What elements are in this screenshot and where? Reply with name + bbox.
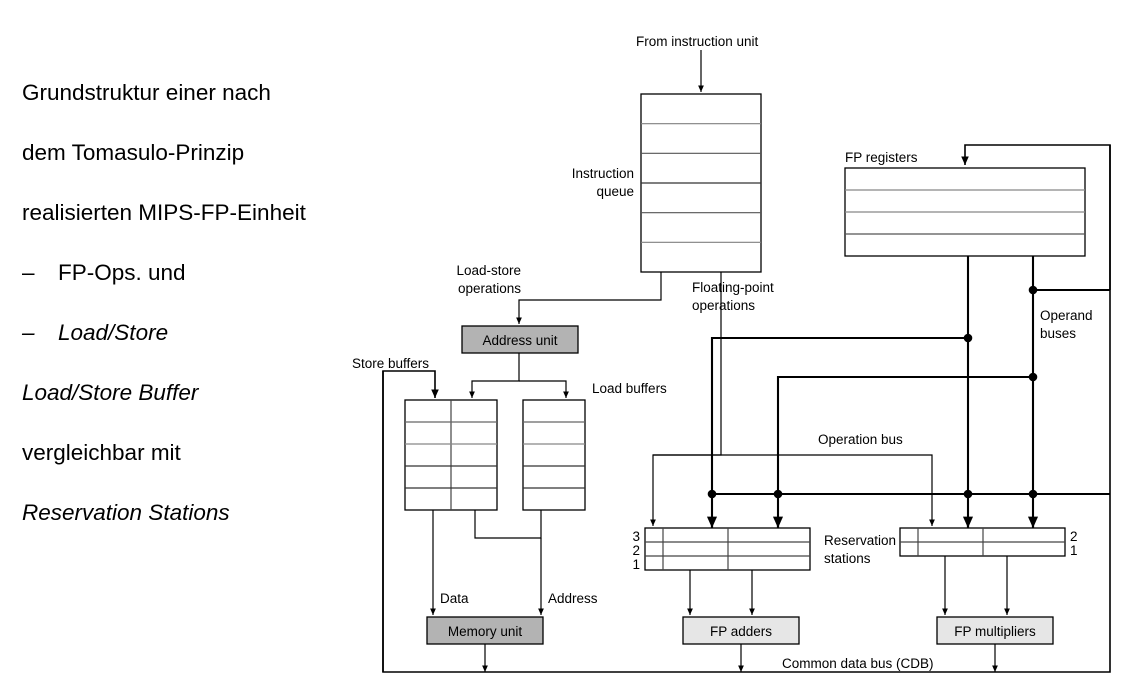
label-data: Data bbox=[440, 591, 469, 606]
store-buffers-block bbox=[405, 400, 497, 510]
label-operand-buses-line2: buses bbox=[1040, 326, 1076, 341]
label-store-buffers: Store buffers bbox=[352, 356, 429, 371]
bus-junction-dots bbox=[708, 286, 1038, 499]
address-unit-fanout bbox=[472, 353, 566, 398]
operand-buses bbox=[712, 256, 1110, 540]
junction-dot bbox=[964, 490, 973, 499]
label-memory-unit: Memory unit bbox=[448, 624, 523, 639]
mult-rs-row-label-2: 2 bbox=[1070, 529, 1078, 544]
tomasulo-diagram: From instruction unit Instruction queue … bbox=[0, 0, 1129, 682]
label-load-buffers: Load buffers bbox=[592, 381, 667, 396]
fp-registers-block bbox=[845, 168, 1085, 256]
operation-bus-path bbox=[653, 455, 932, 526]
adder-reservation-stations-block bbox=[645, 528, 810, 570]
label-fp-adders: FP adders bbox=[710, 624, 772, 639]
label-reservation-stations-line2: stations bbox=[824, 551, 871, 566]
junction-dot bbox=[1029, 373, 1038, 382]
label-common-data-bus: Common data bus (CDB) bbox=[782, 656, 934, 671]
load-store-operations-path bbox=[519, 272, 661, 324]
label-fp-registers: FP registers bbox=[845, 150, 918, 165]
label-reservation-stations-line1: Reservation bbox=[824, 533, 896, 548]
label-operation-bus: Operation bus bbox=[818, 432, 903, 447]
slide-canvas: Grundstruktur einer nachdem Tomasulo-Pri… bbox=[0, 0, 1129, 682]
mult-rs-to-fp-multipliers bbox=[945, 556, 1007, 615]
adder-rs-to-fp-adders bbox=[690, 570, 752, 615]
load-buffers-block bbox=[523, 400, 585, 510]
label-instruction-queue-line1: Instruction bbox=[572, 166, 634, 181]
junction-dot bbox=[964, 334, 973, 343]
label-address: Address bbox=[548, 591, 598, 606]
label-floating-point-ops-line2: operations bbox=[692, 298, 755, 313]
operand-bus-arrowheads bbox=[712, 520, 1033, 528]
label-floating-point-ops-line1: Floating-point bbox=[692, 280, 774, 295]
label-load-store-ops-line1: Load-store bbox=[456, 263, 521, 278]
junction-dot bbox=[708, 490, 717, 499]
label-address-unit: Address unit bbox=[482, 333, 557, 348]
adder-rs-row-label-3: 3 bbox=[632, 529, 640, 544]
instruction-queue-block bbox=[641, 94, 761, 272]
label-from-instruction-unit: From instruction unit bbox=[636, 34, 759, 49]
label-operand-buses-line1: Operand bbox=[1040, 308, 1093, 323]
mult-rs-row-label-1: 1 bbox=[1070, 543, 1078, 558]
adder-rs-row-label-1: 1 bbox=[632, 557, 640, 572]
multiplier-reservation-stations-block bbox=[900, 528, 1065, 556]
junction-dot bbox=[774, 490, 783, 499]
adder-rs-row-label-2: 2 bbox=[632, 543, 640, 558]
label-instruction-queue-line2: queue bbox=[596, 184, 634, 199]
label-load-store-ops-line2: operations bbox=[458, 281, 521, 296]
junction-dot bbox=[1029, 490, 1038, 499]
junction-dot bbox=[1029, 286, 1038, 295]
label-fp-multipliers: FP multipliers bbox=[954, 624, 1036, 639]
